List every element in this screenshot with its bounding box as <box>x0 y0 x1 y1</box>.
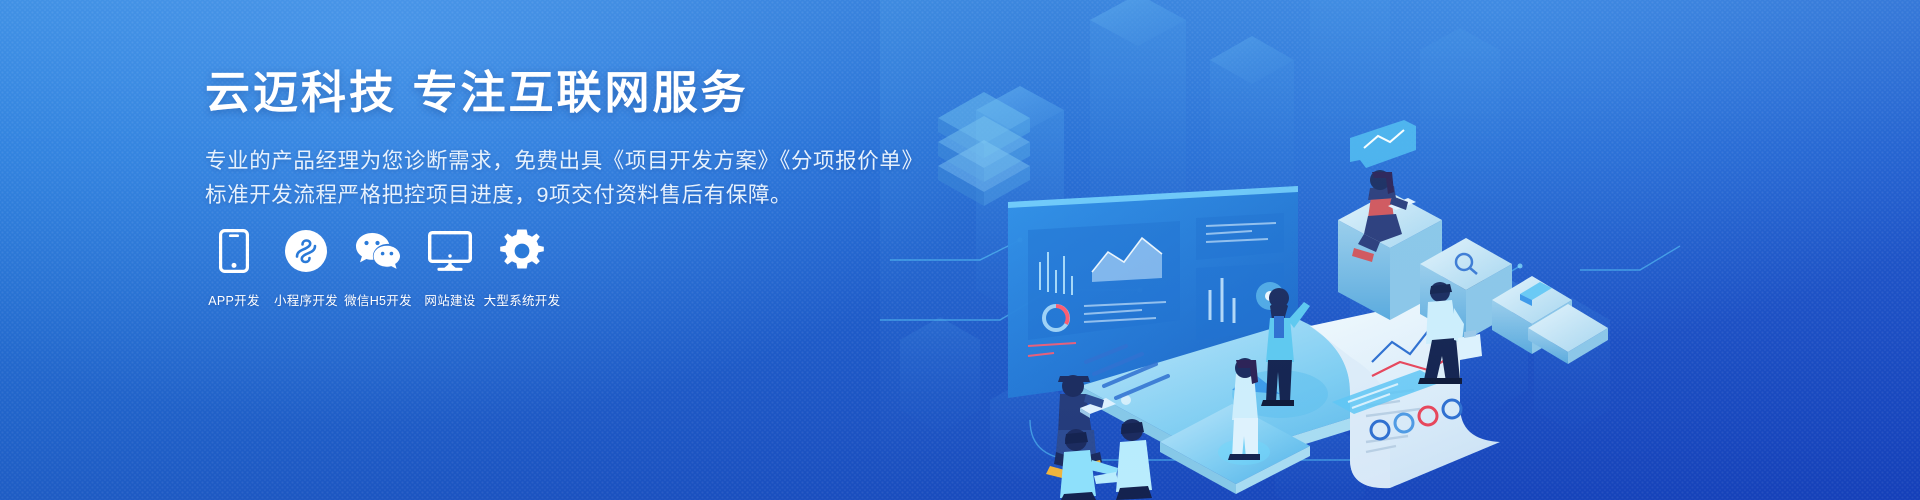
isometric-illustration <box>880 0 1920 500</box>
wechat-icon <box>355 228 401 274</box>
service-icon-list: APP开发 小程序开发 <box>198 228 558 309</box>
mobile-phone-icon <box>211 228 257 274</box>
service-item-system[interactable]: 大型系统开发 <box>486 228 558 309</box>
page-title: 云迈科技 专注互联网服务 <box>205 66 925 119</box>
service-label-app: APP开发 <box>208 290 260 309</box>
service-item-miniprogram[interactable]: 小程序开发 <box>270 228 342 309</box>
monitor-icon <box>427 228 473 274</box>
service-item-website[interactable]: 网站建设 <box>414 228 486 309</box>
hero-subtitle-line-1: 专业的产品经理为您诊断需求，免费出具《项目开发方案》《分项报价单》 <box>205 144 925 178</box>
hero-subtitle-line-2: 标准开发流程严格把控项目进度，9项交付资料售后有保障。 <box>205 178 925 212</box>
hero-copy: 云迈科技 专注互联网服务 专业的产品经理为您诊断需求，免费出具《项目开发方案》《… <box>205 66 925 212</box>
hero-subtitles: 专业的产品经理为您诊断需求，免费出具《项目开发方案》《分项报价单》 标准开发流程… <box>205 144 925 212</box>
service-label-miniprogram: 小程序开发 <box>274 290 338 309</box>
mini-program-icon <box>283 228 329 274</box>
service-label-wechat: 微信H5开发 <box>344 290 412 309</box>
service-label-website: 网站建设 <box>424 290 475 309</box>
service-item-wechat[interactable]: 微信H5开发 <box>342 228 414 309</box>
service-label-system: 大型系统开发 <box>484 290 561 309</box>
gear-icon <box>499 228 545 274</box>
service-item-app[interactable]: APP开发 <box>198 228 270 309</box>
hero-banner: 云迈科技 专注互联网服务 专业的产品经理为您诊断需求，免费出具《项目开发方案》《… <box>0 0 1920 500</box>
